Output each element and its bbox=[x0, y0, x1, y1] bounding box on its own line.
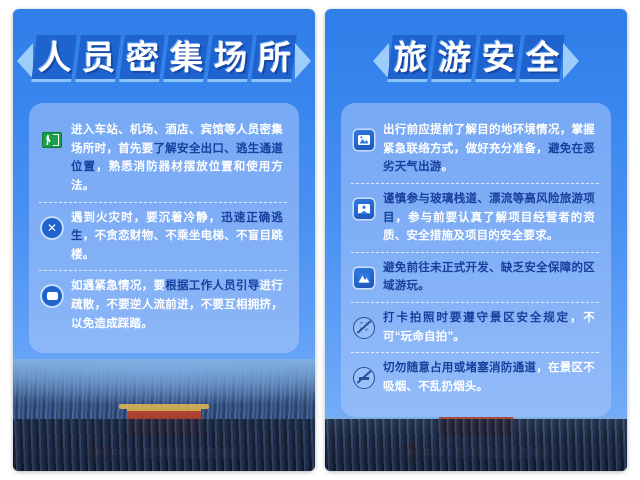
no-smoking-icon: ▬ bbox=[353, 367, 375, 389]
gate-structure bbox=[439, 417, 513, 438]
tips-card: 进入车站、机场、酒店、宾馆等人员密集场所时，首先要了解安全出口、逃生通道位置，熟… bbox=[29, 103, 299, 353]
title-char: 人 bbox=[31, 35, 77, 82]
landscape-photo-icon bbox=[353, 129, 375, 151]
tip-highlight: 打卡拍照时要遵守景区安全规定 bbox=[383, 312, 570, 324]
no-entry-x-icon bbox=[41, 217, 63, 239]
crowd-photo: 中华人民共和国应急管理部 bbox=[13, 359, 315, 471]
footer-credit: 中华人民共和国应急管理部 bbox=[13, 444, 315, 461]
glass-walkway-icon bbox=[353, 198, 375, 220]
title-char: 旅 bbox=[387, 35, 433, 82]
tip-text: 如遇紧急情况，要根据工作人员引导进行疏散，不要逆人流前进，不要互相拥挤，以免造成… bbox=[71, 277, 283, 333]
tip-item: 避免前往未正式开发、缺乏安全保障的区域游玩。 bbox=[351, 252, 599, 302]
title-char: 集 bbox=[163, 35, 209, 82]
tip-item: ▬ 切勿随意占用或堵塞消防通道，在景区不吸烟、不乱扔烟头。 bbox=[351, 352, 599, 402]
title-char: 员 bbox=[75, 35, 121, 82]
poster-title-travel-safety: 旅 游 安 全 bbox=[325, 19, 627, 97]
title-characters: 人 员 密 集 场 所 bbox=[34, 35, 294, 82]
tip-text: 避免前往未正式开发、缺乏安全保障的区域游玩。 bbox=[383, 259, 595, 296]
tip-item: 出行前应提前了解目的地环境情况，掌握紧急联络方式，做好充分准备，避免在恶劣天气出… bbox=[351, 115, 599, 183]
title-char: 场 bbox=[207, 35, 253, 82]
tip-text: 出行前应提前了解目的地环境情况，掌握紧急联络方式，做好充分准备，避免在恶劣天气出… bbox=[383, 121, 595, 177]
title-char: 密 bbox=[119, 35, 165, 82]
tip-item: 谨慎参与玻璃栈道、漂流等高风险旅游项目，参与前要认真了解项目经营者的资质、安全措… bbox=[351, 183, 599, 252]
crowd-icon bbox=[41, 285, 63, 307]
national-emblem-icon bbox=[401, 444, 418, 461]
crowd-photo: 中华人民共和国应急管理部 bbox=[325, 417, 627, 472]
footer-org-name: 中华人民共和国应急管理部 bbox=[423, 445, 550, 460]
footer-org-name: 中华人民共和国应急管理部 bbox=[111, 445, 238, 460]
poster-title-crowded-places: 人 员 密 集 场 所 bbox=[13, 19, 315, 97]
tip-text: 谨慎参与玻璃栈道、漂流等高风险旅游项目，参与前要认真了解项目经营者的资质、安全措… bbox=[383, 190, 595, 246]
title-char: 所 bbox=[251, 35, 297, 82]
tip-highlight: 谨慎参与玻璃栈道、漂流等高风险旅游项目 bbox=[383, 193, 595, 224]
title-char: 安 bbox=[475, 35, 521, 82]
tip-highlight: 避免前往未正式开发、缺乏安全保障的区域游玩。 bbox=[383, 262, 595, 293]
tip-item: 如遇紧急情况，要根据工作人员引导进行疏散，不要逆人流前进，不要互相拥挤，以免造成… bbox=[39, 270, 287, 339]
title-char: 游 bbox=[431, 35, 477, 82]
poster-pair-canvas: 人 员 密 集 场 所 进入车站、机场、酒店、宾馆等人员密集场所时，首先要了解安… bbox=[0, 0, 640, 480]
tip-highlight: 根据工作人员引导 bbox=[165, 280, 259, 292]
tips-card: 出行前应提前了解目的地环境情况，掌握紧急联络方式，做好充分准备，避免在恶劣天气出… bbox=[341, 103, 611, 417]
national-emblem-icon bbox=[89, 444, 106, 461]
tip-text: 切勿随意占用或堵塞消防通道，在景区不吸烟、不乱扔烟头。 bbox=[383, 359, 595, 396]
gate-structure bbox=[127, 408, 201, 437]
emergency-exit-icon bbox=[41, 129, 63, 151]
poster-crowded-places: 人 员 密 集 场 所 进入车站、机场、酒店、宾馆等人员密集场所时，首先要了解安… bbox=[13, 9, 315, 471]
tip-text: 遇到火灾时，要沉着冷静，迅速正确逃生，不贪恋财物、不乘坐电梯、不盲目跳楼。 bbox=[71, 209, 283, 265]
tip-text: 进入车站、机场、酒店、宾馆等人员密集场所时，首先要了解安全出口、逃生通道位置，熟… bbox=[71, 121, 283, 196]
tip-highlight: 切勿随意占用或堵塞消防通道 bbox=[383, 362, 536, 374]
tip-item: ⛶ 打卡拍照时要遵守景区安全规定，不可“玩命自拍”。 bbox=[351, 302, 599, 352]
tip-text: 打卡拍照时要遵守景区安全规定，不可“玩命自拍”。 bbox=[383, 309, 595, 346]
no-selfie-icon: ⛶ bbox=[353, 317, 375, 339]
title-char: 全 bbox=[519, 35, 565, 82]
mountain-icon bbox=[353, 267, 375, 289]
tip-highlight: 避免在恶劣天气出游 bbox=[383, 143, 595, 174]
poster-travel-safety: 旅 游 安 全 出行前应提前了解目的地环境情况，掌握紧急联络方 bbox=[325, 9, 627, 471]
footer-credit: 中华人民共和国应急管理部 bbox=[325, 444, 627, 461]
tip-item: 遇到火灾时，要沉着冷静，迅速正确逃生，不贪恋财物、不乘坐电梯、不盲目跳楼。 bbox=[39, 202, 287, 271]
tip-highlight: 了解安全出口、逃生通道位置 bbox=[71, 143, 283, 174]
tip-highlight: 迅速正确逃生 bbox=[71, 212, 283, 243]
title-characters: 旅 游 安 全 bbox=[390, 35, 562, 82]
tip-item: 进入车站、机场、酒店、宾馆等人员密集场所时，首先要了解安全出口、逃生通道位置，熟… bbox=[39, 115, 287, 202]
